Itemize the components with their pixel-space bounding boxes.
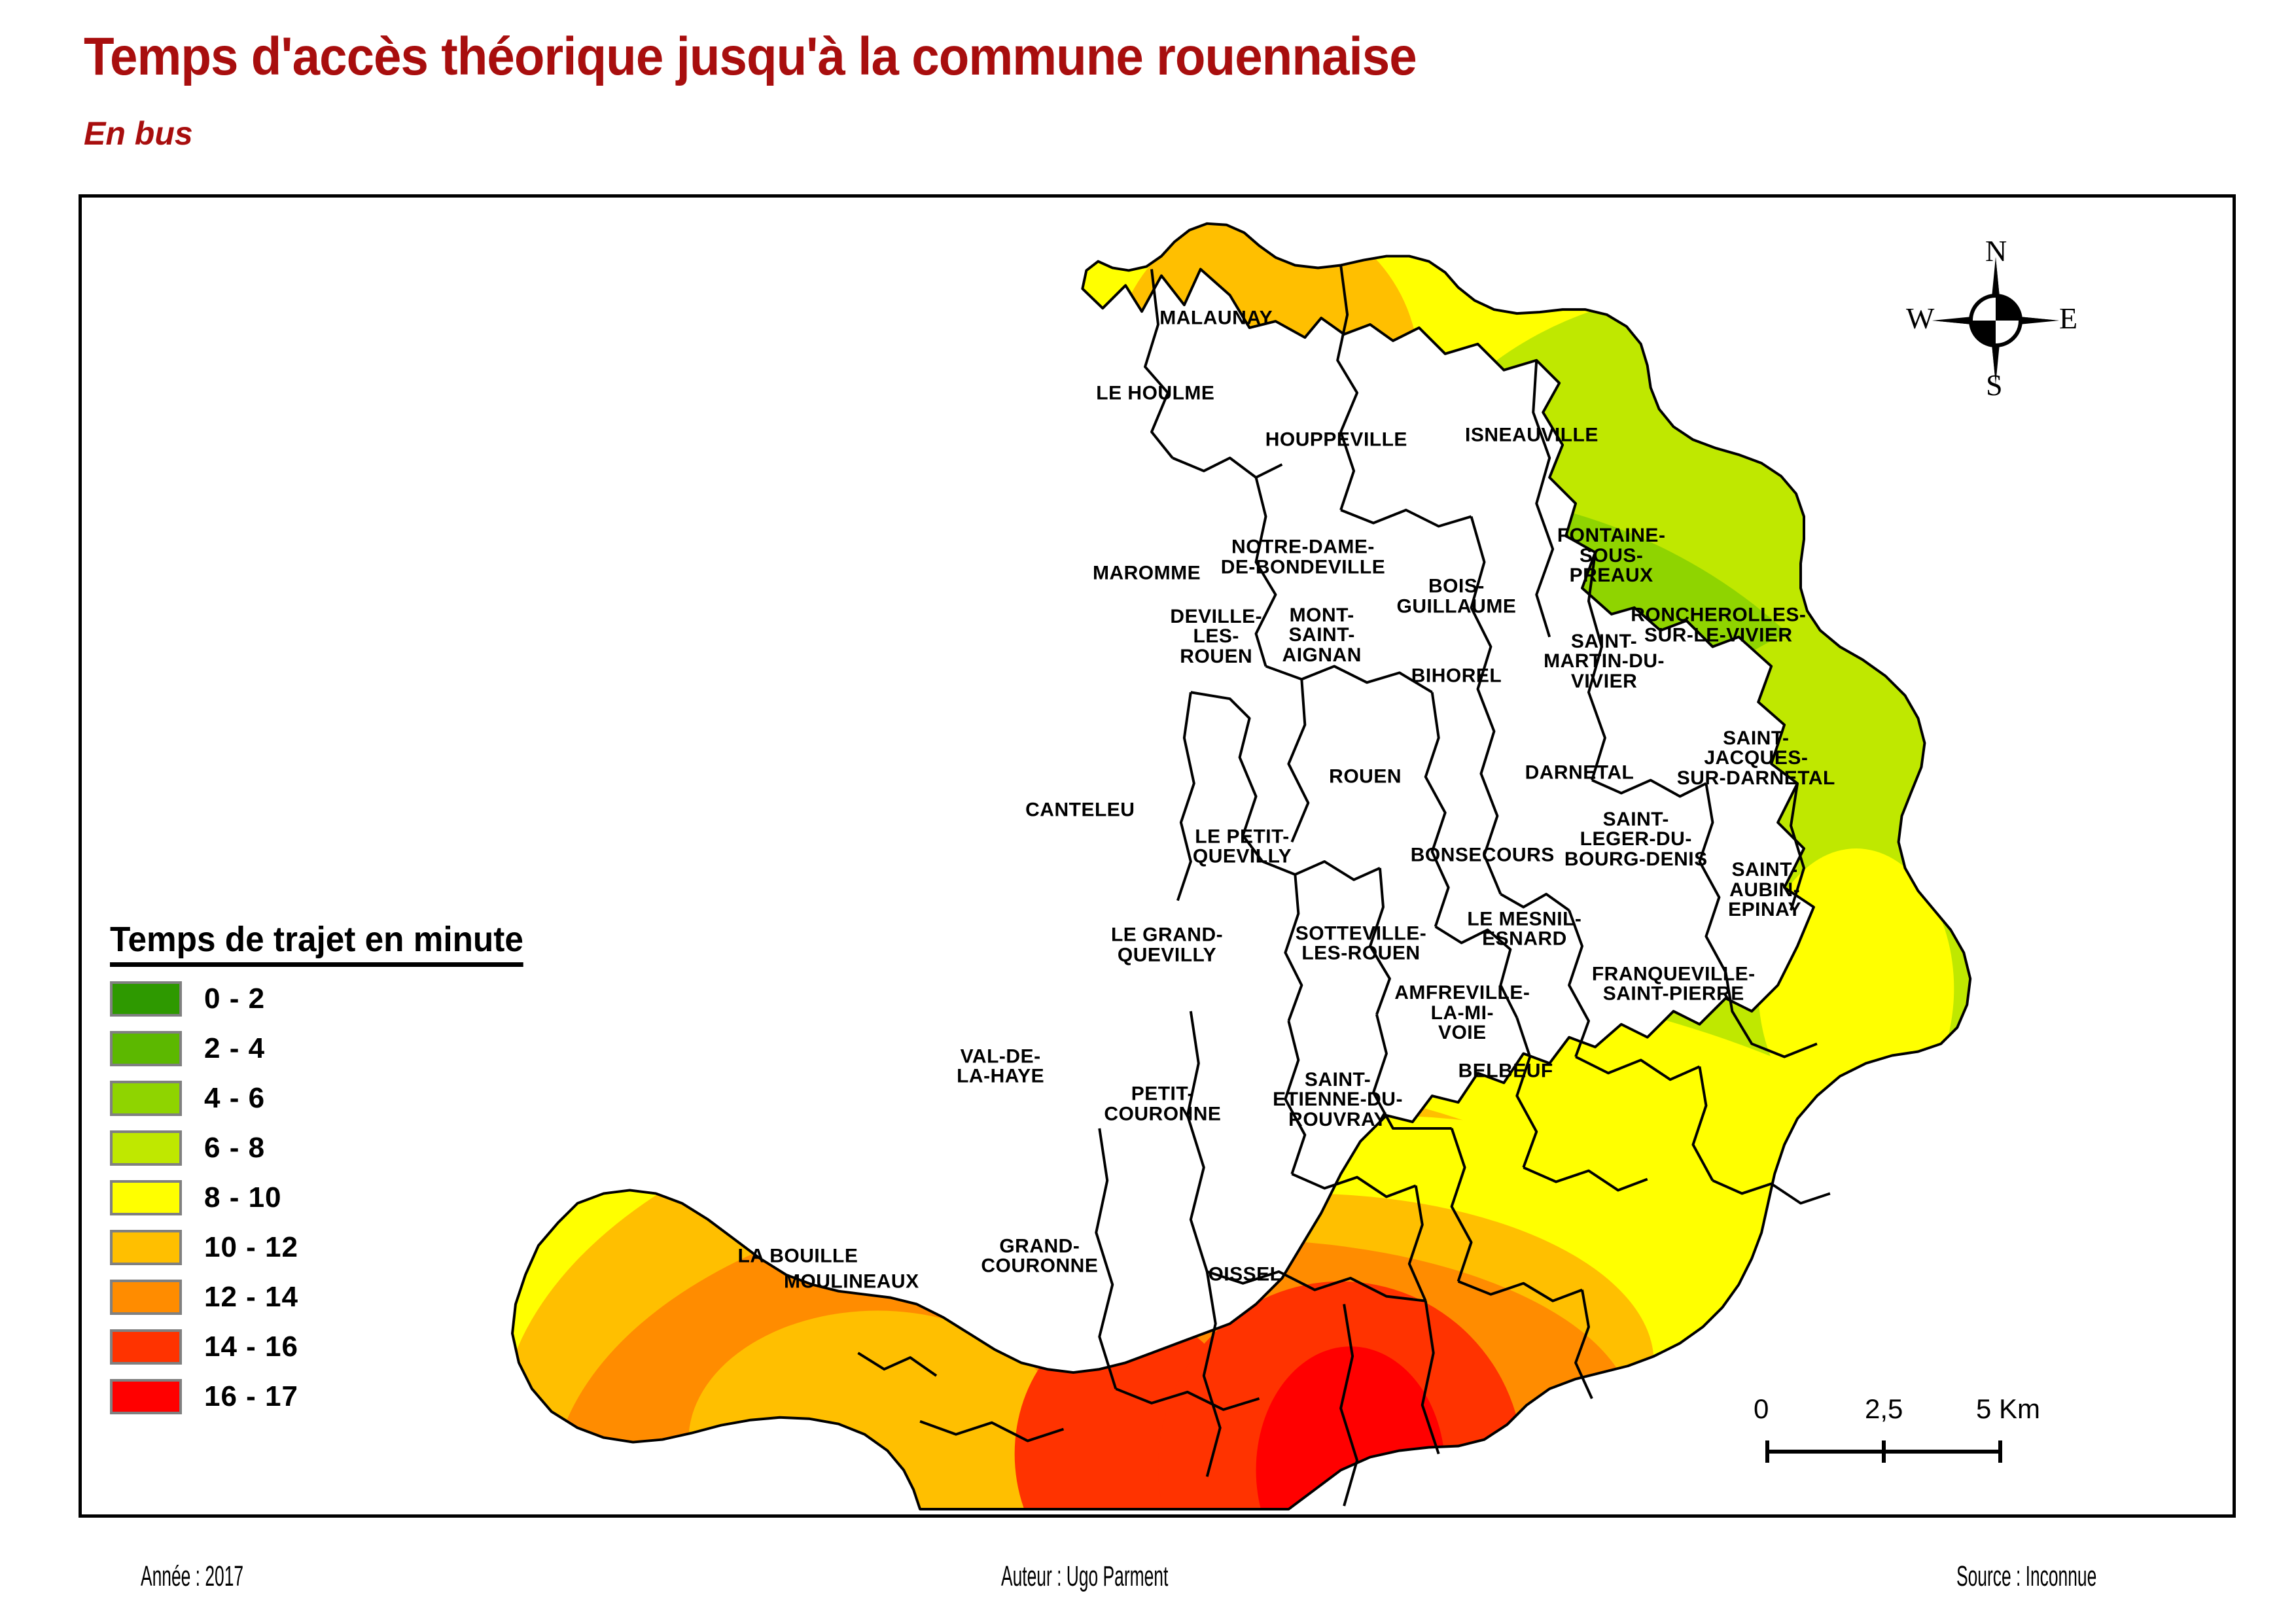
legend-row: 16 - 17 [110, 1379, 673, 1414]
legend-row: 8 - 10 [110, 1180, 673, 1215]
legend-label: 10 - 12 [204, 1231, 298, 1264]
legend-swatch [110, 981, 182, 1017]
legend-swatch [110, 1329, 182, 1365]
map-footer: Année : 2017 Auteur : Ugo Parment Source… [0, 1560, 2296, 1606]
scale-label-2-5: 2,5 [1865, 1393, 1903, 1425]
legend-swatch [110, 1081, 182, 1116]
compass-west-label: W [1906, 301, 1934, 336]
legend-swatch [110, 1180, 182, 1215]
footer-author: Auteur : Ugo Parment [1001, 1560, 1168, 1593]
scale-tick-2-5 [1882, 1440, 1886, 1463]
scale-label-5km: 5 Km [1976, 1393, 2040, 1425]
footer-year: Année : 2017 [141, 1560, 243, 1593]
legend-row: 0 - 2 [110, 981, 673, 1017]
compass-rose: N S W E [1914, 239, 2077, 402]
scale-tick-0 [1765, 1440, 1769, 1463]
legend-swatch [110, 1230, 182, 1265]
legend-row: 4 - 6 [110, 1081, 673, 1116]
legend-label: 2 - 4 [204, 1032, 265, 1065]
legend-swatch [110, 1130, 182, 1166]
legend-label: 0 - 2 [204, 983, 265, 1015]
legend-label: 6 - 8 [204, 1132, 265, 1164]
compass-east-label: E [2059, 301, 2077, 336]
legend-title: Temps de trajet en minute [110, 919, 523, 967]
page-title: Temps d'accès théorique jusqu'à la commu… [84, 26, 1417, 88]
legend-swatch [110, 1280, 182, 1315]
legend-label: 14 - 16 [204, 1331, 298, 1363]
footer-source: Source : Inconnue [1956, 1560, 2096, 1593]
scale-bar: 0 2,5 5 Km [1760, 1393, 2035, 1485]
legend-label: 4 - 6 [204, 1082, 265, 1115]
legend-swatch [110, 1379, 182, 1414]
legend-swatch [110, 1031, 182, 1066]
scale-tick-5 [1998, 1440, 2002, 1463]
compass-south-label: S [1986, 368, 2003, 402]
legend-row: 2 - 4 [110, 1031, 673, 1066]
page-subtitle: En bus [84, 114, 193, 152]
legend-rows: 0 - 22 - 44 - 66 - 88 - 1010 - 1212 - 14… [110, 981, 673, 1414]
legend-row: 10 - 12 [110, 1230, 673, 1265]
scale-label-0: 0 [1754, 1393, 1769, 1425]
legend-label: 16 - 17 [204, 1380, 298, 1413]
legend-row: 14 - 16 [110, 1329, 673, 1365]
legend-label: 12 - 14 [204, 1281, 298, 1314]
legend-row: 12 - 14 [110, 1280, 673, 1315]
map-legend: Temps de trajet en minute 0 - 22 - 44 - … [110, 919, 673, 1414]
compass-north-label: N [1985, 234, 2007, 268]
legend-row: 6 - 8 [110, 1130, 673, 1166]
legend-label: 8 - 10 [204, 1181, 282, 1214]
